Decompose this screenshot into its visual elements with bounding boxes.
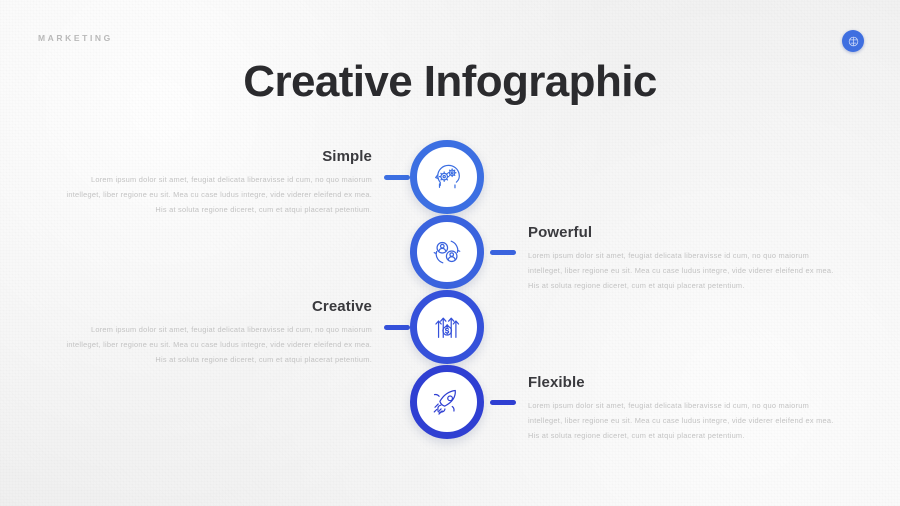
connector-line-2 (490, 250, 516, 255)
team-network-icon (432, 237, 462, 267)
node-circle-1[interactable] (410, 140, 484, 214)
connector-line-4 (490, 400, 516, 405)
item-label-1: Simple (62, 148, 372, 165)
item-label-2: Powerful (528, 224, 838, 241)
item-body-3: Lorem ipsum dolor sit amet, feugiat deli… (62, 322, 372, 368)
node-circle-2[interactable] (410, 215, 484, 289)
node-circle-4[interactable] (410, 365, 484, 439)
timeline-rail: Simple Lorem ipsum dolor sit amet, feugi… (0, 0, 900, 506)
item-block-2: Powerful Lorem ipsum dolor sit amet, feu… (528, 224, 838, 294)
connector-line-1 (384, 175, 410, 180)
item-body-1: Lorem ipsum dolor sit amet, feugiat deli… (62, 172, 372, 218)
item-block-3: Creative Lorem ipsum dolor sit amet, feu… (62, 298, 372, 368)
connector-line-3 (384, 325, 410, 330)
rocket-icon (432, 387, 462, 417)
item-block-1: Simple Lorem ipsum dolor sit amet, feugi… (62, 148, 372, 218)
growth-arrows-money-icon (432, 312, 462, 342)
item-block-4: Flexible Lorem ipsum dolor sit amet, feu… (528, 374, 838, 444)
head-with-gears-icon (432, 162, 462, 192)
infographic-slide: MARKETING Creative Infographic Simp (0, 0, 900, 506)
item-label-4: Flexible (528, 374, 838, 391)
item-label-3: Creative (62, 298, 372, 315)
item-body-2: Lorem ipsum dolor sit amet, feugiat deli… (528, 248, 838, 294)
item-body-4: Lorem ipsum dolor sit amet, feugiat deli… (528, 398, 838, 444)
node-circle-3[interactable] (410, 290, 484, 364)
